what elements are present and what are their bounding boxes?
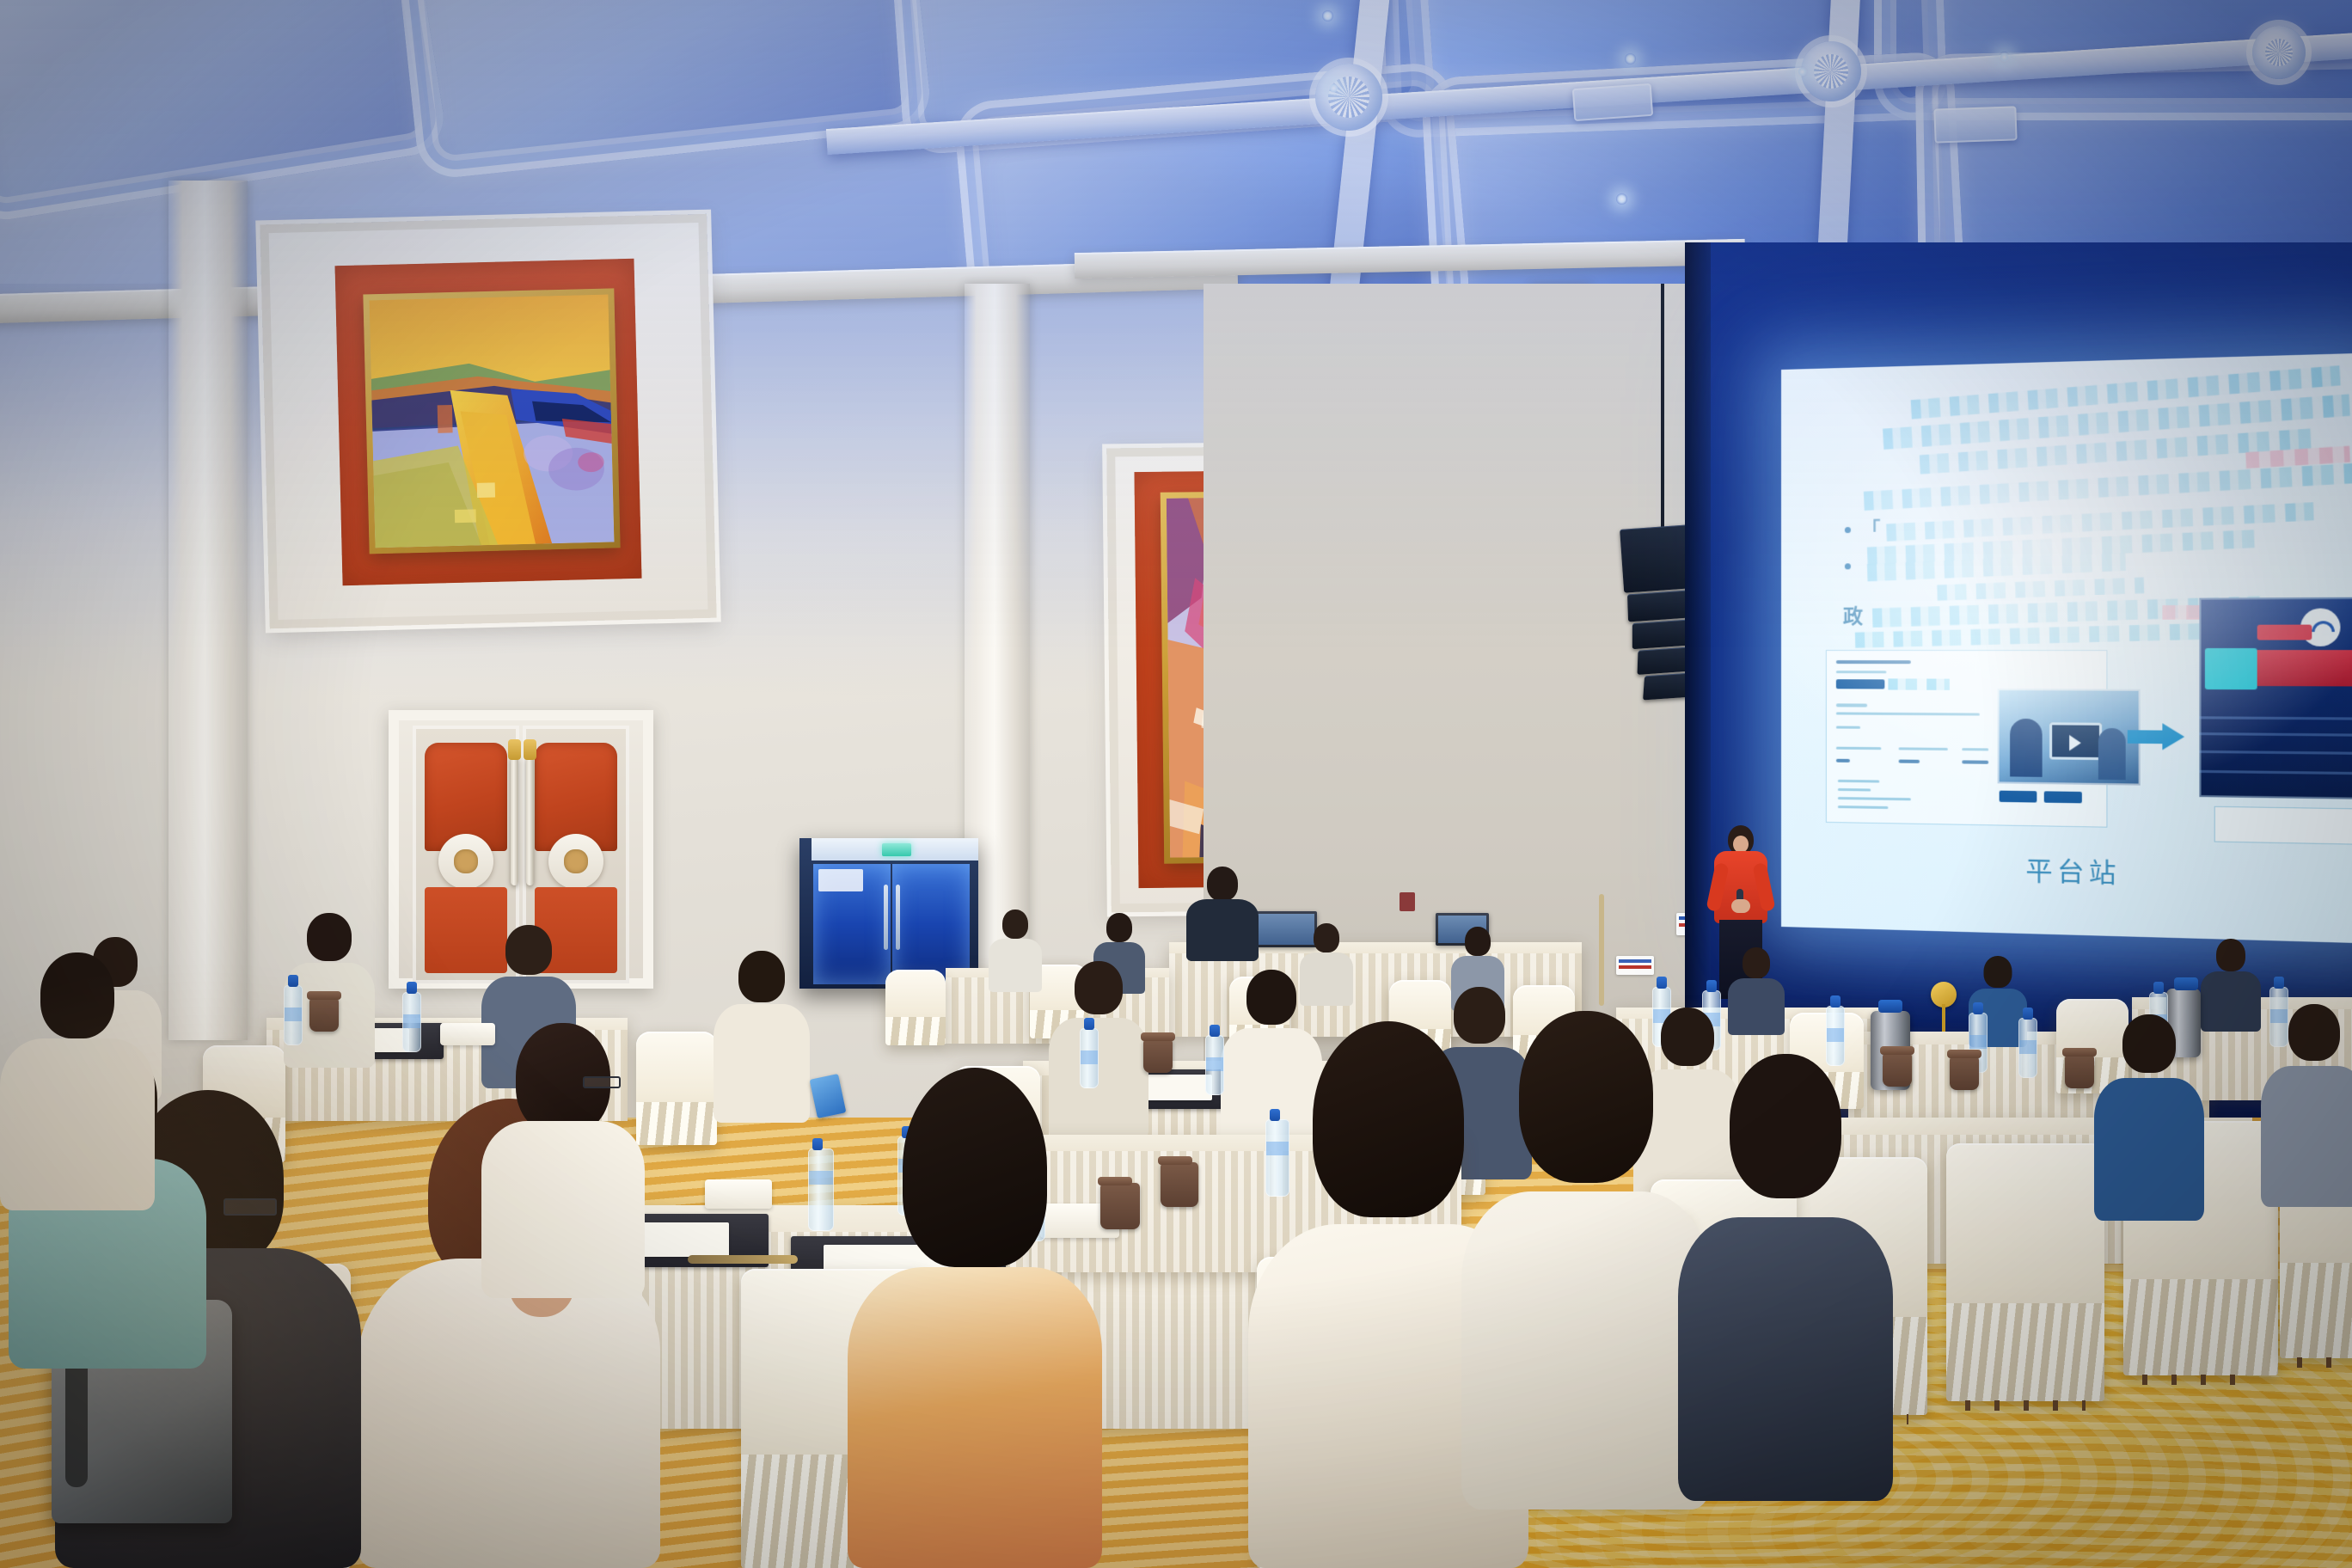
artwork-niche xyxy=(260,214,716,629)
mobile-app-screenshot-panel xyxy=(2199,597,2352,800)
wall-pilaster xyxy=(168,181,248,1040)
banquet-chair[interactable] xyxy=(885,970,946,1045)
door-handle[interactable] xyxy=(526,756,534,885)
audience-member xyxy=(0,952,155,1210)
conference-hall-photo: 「 政 xyxy=(0,0,2352,1568)
landscape-painting-frame xyxy=(363,288,620,554)
card-field-label xyxy=(1962,748,1988,750)
door-handle[interactable] xyxy=(511,756,518,885)
table-number-stand xyxy=(1931,982,1957,1032)
mobile-footer-panel xyxy=(2214,806,2352,845)
glass-door-beverage-cooler[interactable] xyxy=(799,838,978,989)
water-bottle xyxy=(284,985,303,1045)
ceiling-downlight xyxy=(1616,193,1627,205)
ceiling-rosette xyxy=(1801,41,1861,101)
ceramic-teacup xyxy=(1100,1183,1140,1229)
card-video-thumbnail xyxy=(1998,689,2141,786)
eyeglasses xyxy=(583,1076,621,1088)
slide-partial-glyph: 政 xyxy=(1843,600,1865,629)
card-field-label xyxy=(1836,747,1881,750)
door-medallion xyxy=(548,834,603,889)
cooler-glass-door-right[interactable] xyxy=(892,864,970,984)
webpage-screenshot-panel xyxy=(1826,650,2108,828)
audience-member-foreground xyxy=(1461,1011,1711,1510)
water-bottle xyxy=(402,992,421,1052)
ceiling-downlight xyxy=(1322,10,1333,21)
card-line xyxy=(1836,726,1860,729)
flow-arrow-right-icon xyxy=(2128,723,2184,750)
ceiling-air-vent xyxy=(1933,106,2017,143)
audience-member xyxy=(989,910,1042,992)
presenter-hand xyxy=(1731,899,1750,913)
door-quatrefoil-ornament xyxy=(564,849,588,873)
audience-member xyxy=(2261,1004,2352,1207)
ceiling-downlight xyxy=(1328,83,1339,94)
ceramic-teacup xyxy=(1950,1056,1979,1090)
ceiling-rosette xyxy=(1315,64,1382,131)
water-bottle xyxy=(1205,1035,1224,1095)
speaker-suspension-cable xyxy=(1661,284,1664,542)
cooler-display xyxy=(882,843,911,856)
ceramic-teacup xyxy=(2065,1054,2094,1088)
presenter-face xyxy=(1733,836,1749,853)
app-chip xyxy=(2257,625,2312,640)
ceiling-downlight xyxy=(1625,53,1636,64)
cooler-handle[interactable] xyxy=(884,885,888,950)
water-bottle xyxy=(2018,1018,2037,1078)
audience-member xyxy=(2094,1014,2204,1221)
wall-switch-plate xyxy=(1400,892,1415,911)
card-field-value xyxy=(1962,760,1988,763)
card-tag-blurred xyxy=(1888,678,1949,689)
slide-caption: 平台站 xyxy=(1781,844,2352,897)
projection-screen: 「 政 xyxy=(1781,352,2352,944)
card-list-item xyxy=(1838,788,1871,792)
audience-member-foreground xyxy=(481,1023,645,1298)
abstract-landscape-painting xyxy=(370,295,615,548)
card-list-item xyxy=(1838,805,1889,809)
card-heading-line xyxy=(1836,660,1911,664)
pen[interactable] xyxy=(688,1255,798,1264)
ceramic-teacup xyxy=(309,997,339,1032)
card-list-item xyxy=(1838,797,1911,800)
ceiling-coffer xyxy=(390,0,933,181)
ceiling-downlight xyxy=(1797,66,1808,77)
ceiling-air-vent xyxy=(1572,83,1653,121)
audience-member-foreground xyxy=(848,1068,1102,1568)
door-quatrefoil-ornament xyxy=(454,849,478,873)
slide-bullet-marker xyxy=(1845,563,1851,569)
audience-member-foreground xyxy=(1678,1054,1893,1501)
card-field-value xyxy=(1899,760,1920,763)
av-operator xyxy=(1186,867,1259,961)
wall-sign xyxy=(1616,956,1654,975)
water-bottle xyxy=(808,1148,834,1231)
ceiling-rosette xyxy=(2252,26,2306,79)
card-field-label xyxy=(1899,747,1948,750)
door-medallion xyxy=(438,834,493,889)
slide-bullet-marker xyxy=(1845,527,1851,533)
card-line xyxy=(1836,703,1867,707)
card-button[interactable] xyxy=(2000,791,2037,803)
folded-napkin xyxy=(705,1179,772,1209)
ceiling-downlight xyxy=(1999,52,2010,63)
card-meta-line xyxy=(1836,671,1887,673)
sign-bar xyxy=(1619,965,1651,969)
audience-member xyxy=(2201,939,2261,1032)
cooler-label-sticker xyxy=(818,869,863,891)
card-line xyxy=(1836,712,1980,715)
card-field-value xyxy=(1836,759,1850,763)
audience-member xyxy=(714,951,810,1123)
cooler-handle[interactable] xyxy=(896,885,900,950)
sign-bar xyxy=(1619,959,1651,963)
wall-conduit xyxy=(1599,894,1604,1006)
app-chip xyxy=(2205,648,2257,689)
card-tag xyxy=(1836,679,1884,689)
banquet-chair[interactable] xyxy=(1946,1143,2104,1401)
card-button[interactable] xyxy=(2044,791,2082,803)
ceramic-teacup xyxy=(1161,1162,1198,1207)
eyeglasses xyxy=(224,1198,277,1216)
card-list-item xyxy=(1838,780,1879,783)
slide-bullet-blurred xyxy=(1937,577,2144,600)
slide-partial-glyph: 「 xyxy=(1862,514,1882,541)
app-banner xyxy=(2242,650,2352,686)
ceramic-teacup xyxy=(1143,1038,1173,1073)
